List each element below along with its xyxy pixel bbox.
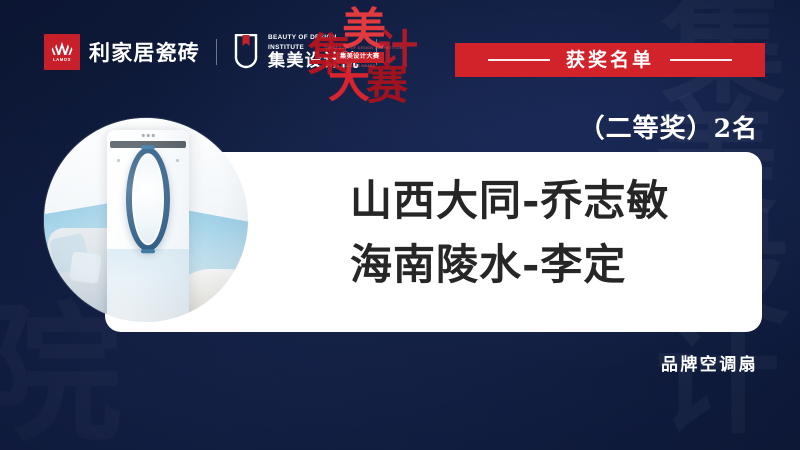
unit-fan-ring [126,147,170,251]
jimei-logo-mark [233,34,259,70]
brand-lamos: LAMOS 利家居瓷砖 [44,34,200,70]
emblem-char-sai: 赛 [366,64,408,106]
award-poster: 集 美 设 计 院 LAMOS 利家居瓷砖 [0,0,800,450]
watermark-char-5: 院 [0,300,122,450]
watermark-char-4: 计 [655,316,780,441]
banner-title: 获奖名单 [566,51,654,70]
emblem-tagline-bottom: 2 0 2 1 DESIGN AWARD [330,64,376,68]
award-rank-label: （二等奖）2名 [579,108,758,145]
ring-tab-bottom [141,249,155,253]
product-photo [44,118,248,322]
emblem-char-da: 大 [328,62,370,104]
emblem-badge: 集美设计大赛 [336,52,384,63]
winner-name-2: 海南陵水-李定 [350,236,669,294]
ring-tab-top [141,145,155,149]
unit-indicator-dots [142,134,155,137]
air-conditioner-unit [107,130,189,322]
unit-lower-panel [107,249,189,322]
winners-name-list: 山西大同-乔志敏 海南陵水-李定 [350,172,669,294]
winners-list-banner: 获奖名单 [455,43,765,77]
award-rank-text: （二等奖） [579,114,714,144]
banner-rule-left [488,59,550,61]
scene-side-table [179,269,248,322]
lamos-logo-mark: LAMOS [44,34,80,70]
emblem-tagline-top: THE BEAUTY OF DESIGN COMPETITION [324,46,403,50]
competition-emblem: 集 美 计 大 赛 THE BEAUTY OF DESIGN COMPETITI… [306,6,422,106]
lamos-mark-subtext: LAMOS [53,58,71,62]
lamos-brand-name: 利家居瓷砖 [89,37,200,67]
product-category-label: 品牌空调扇 [661,350,758,375]
banner-rule-right [670,59,732,61]
logo-divider-1 [216,39,217,65]
unit-sensor-left [117,159,120,162]
scene-pillow-2 [69,251,101,283]
product-photo-scene [44,118,248,322]
unit-sensor-right [176,159,179,162]
award-count-text: 2名 [714,114,758,143]
winner-name-1: 山西大同-乔志敏 [350,172,669,230]
